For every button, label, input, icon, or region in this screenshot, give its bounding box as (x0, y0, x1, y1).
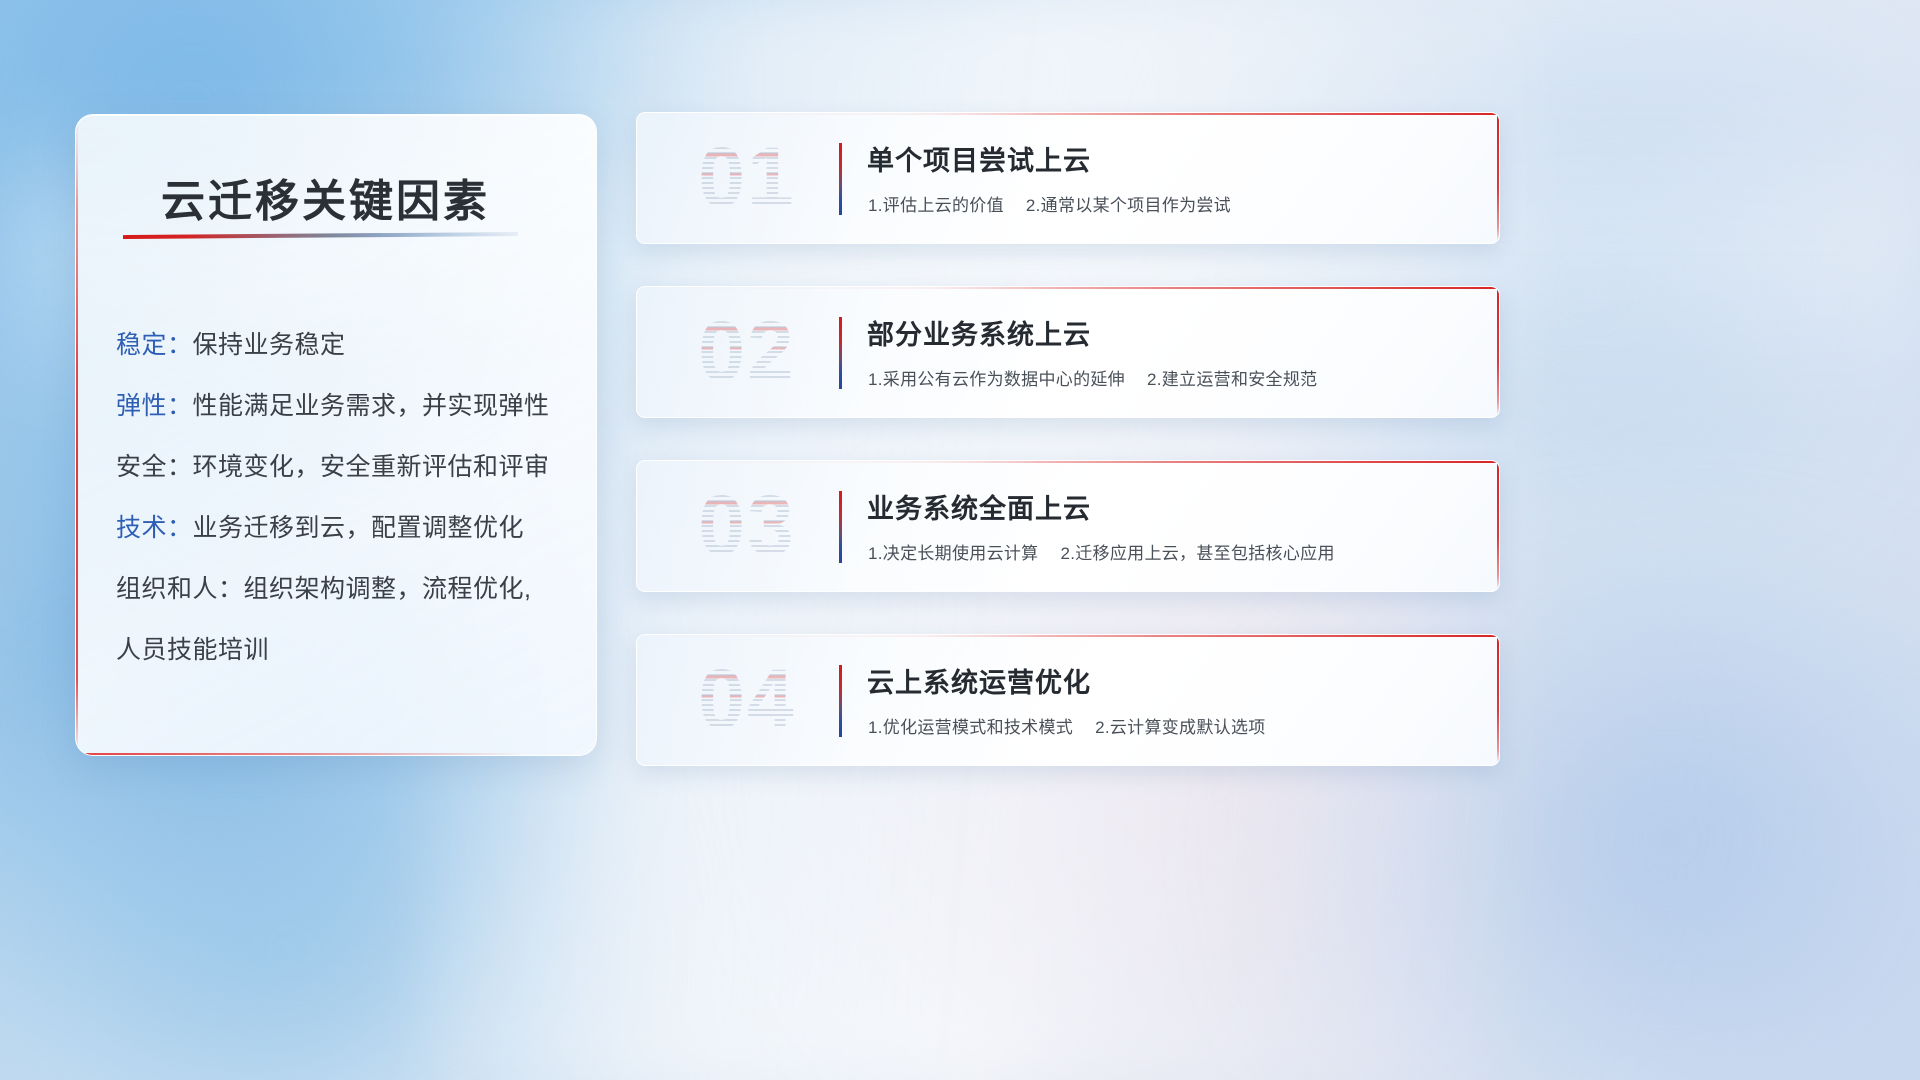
list-item-continuation: 人员技能培训 (116, 620, 586, 681)
stage-description: 1.优化运营模式和技术模式2.云计算变成默认选项 (868, 713, 1266, 738)
list-item-label: 技术： (116, 514, 193, 542)
stage-heading: 单个项目尝试上云 (867, 139, 1091, 178)
stage-divider-bar (839, 317, 842, 389)
stage-card[interactable]: 02 02 部分业务系统上云 1.采用公有云作为数据中心的延伸2.建立运营和安全… (636, 286, 1500, 418)
stage-point-1: 1.采用公有云作为数据中心的延伸 (868, 370, 1125, 389)
list-item-text: 性能满足业务需求，并实现弹性 (193, 392, 550, 420)
list-item-text: 环境变化，安全重新评估和评审 (193, 453, 550, 481)
stage-number-red-accent: 02 (663, 301, 831, 401)
stage-heading: 部分业务系统上云 (867, 313, 1091, 352)
list-item-label: 弹性： (116, 392, 193, 420)
page-title: 云迁移关键因素 (161, 165, 490, 229)
stage-card[interactable]: 04 04 云上系统运营优化 1.优化运营模式和技术模式2.云计算变成默认选项 (636, 634, 1500, 766)
list-item-label: 组织和人： (116, 575, 244, 603)
stage-point-1: 1.评估上云的价值 (868, 196, 1004, 215)
list-item-text: 保持业务稳定 (193, 331, 346, 359)
migration-stages-list: 01 01 单个项目尝试上云 1.评估上云的价值2.通常以某个项目作为尝试 02… (636, 112, 1500, 808)
stage-number-red-accent: 04 (663, 649, 831, 749)
stage-number-red-accent: 01 (663, 127, 831, 227)
stage-description: 1.决定长期使用云计算2.迁移应用上云，甚至包括核心应用 (868, 539, 1335, 564)
list-item-label: 安全： (116, 453, 193, 481)
stage-point-2: 2.建立运营和安全规范 (1147, 370, 1317, 389)
stage-divider-bar (839, 491, 842, 563)
list-item-label: 稳定： (116, 331, 193, 359)
list-item-text: 组织架构调整，流程优化, (244, 575, 532, 603)
stage-heading: 云上系统运营优化 (867, 661, 1091, 700)
stage-point-2: 2.迁移应用上云，甚至包括核心应用 (1060, 544, 1334, 563)
list-item: 技术：业务迁移到云，配置调整优化 (116, 498, 586, 559)
key-factors-list: 稳定：保持业务稳定 弹性：性能满足业务需求，并实现弹性 安全：环境变化，安全重新… (116, 315, 586, 681)
stage-divider-bar (839, 143, 842, 215)
list-item: 组织和人：组织架构调整，流程优化, (116, 559, 586, 620)
list-item: 安全：环境变化，安全重新评估和评审 (116, 437, 586, 498)
key-factors-card: 云迁移关键因素 稳定：保持业务稳定 弹性：性能满足业务需求，并实现弹性 安全：环… (75, 114, 597, 756)
stage-description: 1.采用公有云作为数据中心的延伸2.建立运营和安全规范 (868, 365, 1317, 390)
stage-divider-bar (839, 665, 842, 737)
stage-point-2: 2.云计算变成默认选项 (1095, 718, 1265, 737)
list-item: 弹性：性能满足业务需求，并实现弹性 (116, 376, 586, 437)
stage-description: 1.评估上云的价值2.通常以某个项目作为尝试 (868, 191, 1231, 216)
stage-heading: 业务系统全面上云 (867, 487, 1091, 526)
stage-point-2: 2.通常以某个项目作为尝试 (1026, 196, 1231, 215)
stage-card[interactable]: 03 03 业务系统全面上云 1.决定长期使用云计算2.迁移应用上云，甚至包括核… (636, 460, 1500, 592)
stage-number-red-accent: 03 (663, 475, 831, 575)
list-item-text: 业务迁移到云，配置调整优化 (193, 514, 525, 542)
title-underline-accent (123, 232, 518, 239)
list-item-text: 人员技能培训 (116, 636, 269, 664)
list-item: 稳定：保持业务稳定 (116, 315, 586, 376)
stage-card[interactable]: 01 01 单个项目尝试上云 1.评估上云的价值2.通常以某个项目作为尝试 (636, 112, 1500, 244)
stage-point-1: 1.决定长期使用云计算 (868, 544, 1038, 563)
stage-point-1: 1.优化运营模式和技术模式 (868, 718, 1073, 737)
